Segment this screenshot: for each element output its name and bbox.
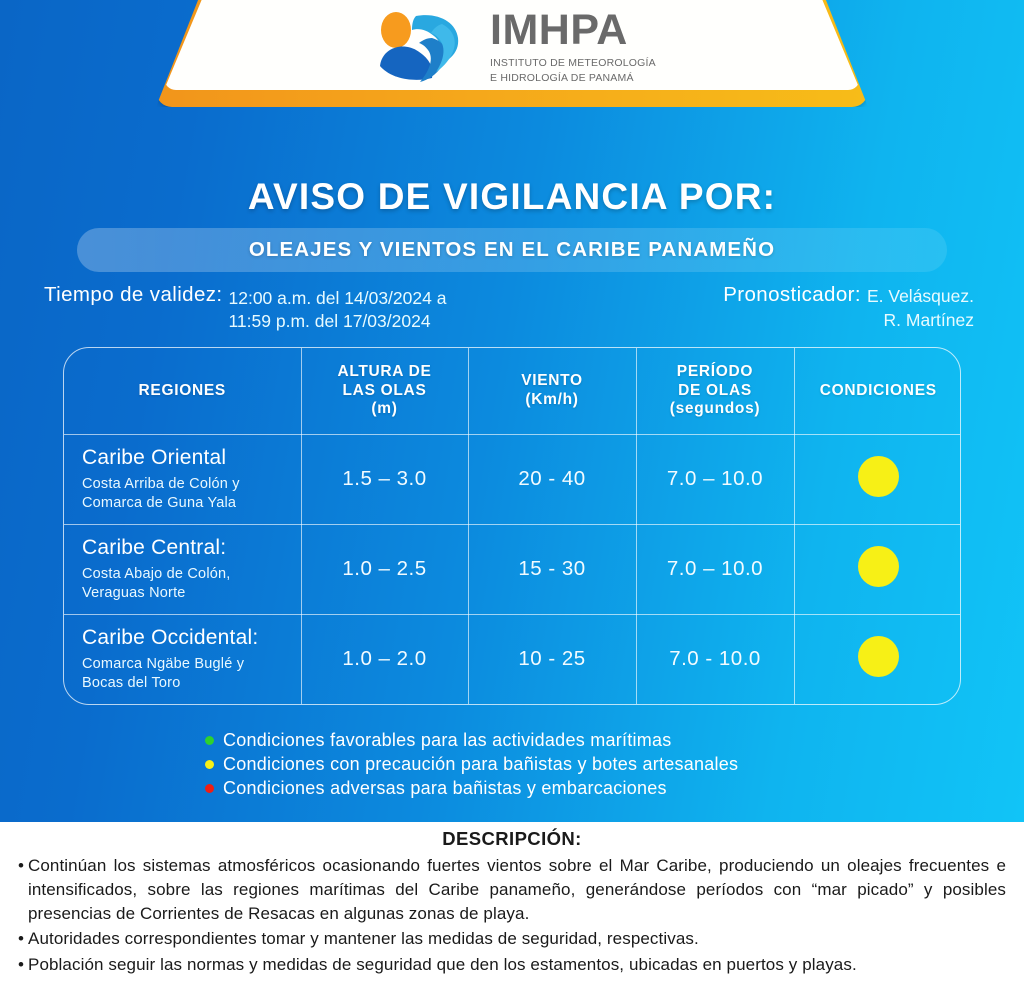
region-detail-line: Comarca Ngäbe Buglé y (82, 655, 291, 674)
forecaster-block: Pronosticador: E. Velásquez. R. Martínez (723, 282, 974, 331)
description-text: Continúan los sistemas atmosféricos ocas… (28, 854, 1006, 926)
column-header-regiones: REGIONES (64, 348, 301, 434)
region-detail-line: Costa Abajo de Colón, (82, 565, 291, 584)
imhpa-subtitle-line-1: INSTITUTO DE METEOROLOGÍA (490, 56, 656, 70)
column-header-line: DE OLAS (637, 382, 794, 400)
subtitle-banner: OLEAJES Y VIENTOS EN EL CARIBE PANAMEÑO (77, 228, 947, 272)
column-header-viento: VIENTO (Km/h) (468, 348, 636, 434)
column-header-line: (m) (302, 400, 468, 418)
table-header-row: REGIONES ALTURA DE LAS OLAS (m) VIENTO (… (64, 348, 961, 434)
green-dot-icon (205, 736, 214, 745)
yellow-circle-icon (858, 636, 899, 677)
table-row: Caribe Central: Costa Abajo de Colón, Ve… (64, 524, 961, 614)
wave-height-cell: 1.0 – 2.0 (301, 614, 468, 704)
region-detail-line: Comarca de Guna Yala (82, 494, 291, 513)
column-header-condiciones: CONDICIONES (794, 348, 961, 434)
imhpa-logo: IMHPA INSTITUTO DE METEOROLOGÍA E HIDROL… (372, 8, 656, 86)
column-header-line: VIENTO (469, 372, 636, 390)
table-row: Caribe Occidental: Comarca Ngäbe Buglé y… (64, 614, 961, 704)
region-detail-line: Costa Arriba de Colón y (82, 475, 291, 494)
validity-block: Tiempo de validez: 12:00 a.m. del 14/03/… (44, 282, 446, 332)
yellow-circle-icon (858, 456, 899, 497)
region-cell: Caribe Central: Costa Abajo de Colón, Ve… (64, 524, 301, 614)
forecaster-name-2: R. Martínez (867, 310, 974, 331)
conditions-table: REGIONES ALTURA DE LAS OLAS (m) VIENTO (… (63, 347, 961, 705)
table-row: Caribe Oriental Costa Arriba de Colón y … (64, 434, 961, 524)
wave-period-cell: 7.0 – 10.0 (636, 524, 794, 614)
forecaster-values: E. Velásquez. R. Martínez (867, 282, 974, 331)
column-header-line: LAS OLAS (302, 382, 468, 400)
conditions-legend: Condiciones favorables para las activida… (205, 730, 738, 799)
wind-cell: 15 - 30 (468, 524, 636, 614)
wind-cell: 20 - 40 (468, 434, 636, 524)
region-cell: Caribe Oriental Costa Arriba de Colón y … (64, 434, 301, 524)
bullet-icon: • (14, 927, 28, 951)
region-cell: Caribe Occidental: Comarca Ngäbe Buglé y… (64, 614, 301, 704)
yellow-dot-icon (205, 760, 214, 769)
wave-period-cell: 7.0 - 10.0 (636, 614, 794, 704)
bullet-icon: • (14, 953, 28, 977)
imhpa-logo-text: IMHPA INSTITUTO DE METEOROLOGÍA E HIDROL… (490, 9, 656, 84)
validity-start: 12:00 a.m. del 14/03/2024 a (229, 288, 447, 309)
description-item: • Autoridades correspondientes tomar y m… (14, 927, 1006, 951)
region-detail-line: Bocas del Toro (82, 674, 291, 693)
description-item: • Continúan los sistemas atmosféricos oc… (14, 854, 1006, 926)
wave-period-cell: 7.0 – 10.0 (636, 434, 794, 524)
forecaster-name-1: E. Velásquez. (867, 286, 974, 307)
wave-height-cell: 1.5 – 3.0 (301, 434, 468, 524)
region-detail: Costa Abajo de Colón, Veraguas Norte (82, 565, 291, 602)
imhpa-acronym: IMHPA (490, 9, 656, 52)
advisory-poster: IMHPA INSTITUTO DE METEOROLOGÍA E HIDROL… (0, 0, 1024, 993)
region-detail: Comarca Ngäbe Buglé y Bocas del Toro (82, 655, 291, 692)
description-section: DESCRIPCIÓN: • Continúan los sistemas at… (0, 828, 1024, 978)
description-text: Población seguir las normas y medidas de… (28, 953, 857, 977)
column-header-line: PERÍODO (637, 363, 794, 381)
imhpa-subtitle: INSTITUTO DE METEOROLOGÍA E HIDROLOGÍA D… (490, 56, 656, 84)
legend-item: Condiciones adversas para bañistas y emb… (205, 778, 738, 799)
legend-label: Condiciones favorables para las activida… (223, 730, 671, 751)
region-name: Caribe Central: (82, 536, 291, 559)
imhpa-wave-logo-icon (372, 8, 476, 86)
bullet-icon: • (14, 854, 28, 878)
validity-values: 12:00 a.m. del 14/03/2024 a 11:59 p.m. d… (229, 282, 447, 332)
condition-cell (794, 434, 961, 524)
column-header-altura-olas: ALTURA DE LAS OLAS (m) (301, 348, 468, 434)
column-header-periodo-olas: PERÍODO DE OLAS (segundos) (636, 348, 794, 434)
forecaster-label: Pronosticador: (723, 282, 861, 307)
legend-item: Condiciones con precaución para bañistas… (205, 754, 738, 775)
legend-label: Condiciones con precaución para bañistas… (223, 754, 738, 775)
condition-cell (794, 524, 961, 614)
description-text: Autoridades correspondientes tomar y man… (28, 927, 699, 951)
red-dot-icon (205, 784, 214, 793)
validity-end: 11:59 p.m. del 17/03/2024 (229, 311, 447, 332)
region-name: Caribe Oriental (82, 446, 291, 469)
description-list: • Continúan los sistemas atmosféricos oc… (0, 854, 1024, 977)
region-detail: Costa Arriba de Colón y Comarca de Guna … (82, 475, 291, 512)
column-header-line: CONDICIONES (795, 382, 962, 400)
wave-height-cell: 1.0 – 2.5 (301, 524, 468, 614)
imhpa-subtitle-line-2: E HIDROLOGÍA DE PANAMÁ (490, 71, 656, 85)
description-title: DESCRIPCIÓN: (0, 828, 1024, 850)
region-name: Caribe Occidental: (82, 626, 291, 649)
region-detail-line: Veraguas Norte (82, 584, 291, 603)
description-item: • Población seguir las normas y medidas … (14, 953, 1006, 977)
column-header-line: (segundos) (637, 400, 794, 418)
advisory-meta: Tiempo de validez: 12:00 a.m. del 14/03/… (0, 282, 1024, 338)
yellow-circle-icon (858, 546, 899, 587)
column-header-line: REGIONES (64, 382, 301, 400)
legend-item: Condiciones favorables para las activida… (205, 730, 738, 751)
legend-label: Condiciones adversas para bañistas y emb… (223, 778, 667, 799)
page-title: AVISO DE VIGILANCIA POR: (0, 176, 1024, 218)
validity-label: Tiempo de validez: (44, 282, 223, 307)
column-header-line: (Km/h) (469, 391, 636, 409)
condition-cell (794, 614, 961, 704)
wind-cell: 10 - 25 (468, 614, 636, 704)
column-header-line: ALTURA DE (302, 363, 468, 381)
subtitle-text: OLEAJES Y VIENTOS EN EL CARIBE PANAMEÑO (249, 238, 775, 262)
